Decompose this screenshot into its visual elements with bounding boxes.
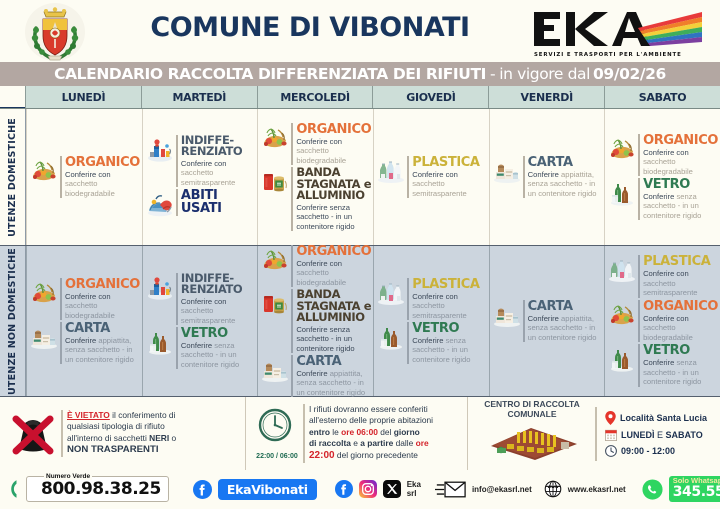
facebook-icon[interactable] xyxy=(335,480,353,498)
day-header-mercoledi: MERCOLEDÌ xyxy=(257,86,373,108)
prohibition-line2: qualsiasi tipologia di rifiuto xyxy=(67,421,165,431)
timing-t3d: del xyxy=(378,427,394,437)
waste-type-description: Conferire con sacchetto biodegradabile xyxy=(296,259,371,287)
center-day-conj: E xyxy=(657,430,663,440)
municipal-coat-of-arms-icon xyxy=(24,2,86,62)
timing-t4b: e xyxy=(351,438,360,448)
organic-waste-icon xyxy=(607,300,637,330)
waste-type-description: Conferire con sacchetto semitrasparente xyxy=(643,269,718,297)
paper-waste-icon xyxy=(492,300,522,330)
waste-type-title: VETRO xyxy=(181,327,255,340)
waste-entry: CARTAConferire appiattita, senza sacchet… xyxy=(260,355,371,397)
timing-t3b: le xyxy=(330,427,341,437)
cans-icon xyxy=(260,289,290,319)
center-hours-text: 09:00 - 12:00 xyxy=(621,446,675,456)
waste-type-title: VETRO xyxy=(412,322,486,335)
timing-entro: entro xyxy=(309,427,330,437)
toll-free-block: Numero Verde 800.98.38.25 xyxy=(26,476,169,502)
banner-valid-label: in vigore dal xyxy=(499,65,590,83)
waste-entry: ORGANICOConferire con sacchetto biodegra… xyxy=(607,300,718,342)
waste-type-title: INDIFFE-RENZIATO xyxy=(181,273,255,296)
cell-non-domestiche-lunedi: ORGANICOConferire con sacchetto biodegra… xyxy=(26,246,142,396)
organic-waste-icon xyxy=(29,278,59,308)
waste-entry-text: ORGANICOConferire con sacchetto biodegra… xyxy=(291,123,371,165)
prohibition-line1: il conferimento di xyxy=(110,410,176,420)
clock-icon xyxy=(605,445,617,457)
waste-entry-text: PLASTICAConferire con sacchetto semitras… xyxy=(407,156,486,198)
plastic-waste-icon xyxy=(607,255,637,285)
prohibition-line3c: o xyxy=(169,433,176,443)
waste-entry-text: PLASTICAConferire con sacchetto semitras… xyxy=(407,278,486,320)
center-hours-row: 09:00 - 12:00 xyxy=(605,445,707,457)
waste-entry: VETROConferire senza sacchetto - in un c… xyxy=(607,178,718,220)
cell-non-domestiche-venerdi: CARTAConferire appiattita, senza sacchet… xyxy=(489,246,604,396)
waste-type-title: ORGANICO xyxy=(65,278,140,291)
paper-waste-icon xyxy=(492,156,522,186)
svg-text:SERVIZI E TRASPORTI PER L'AMBI: SERVIZI E TRASPORTI PER L'AMBIENTE xyxy=(534,52,682,58)
table-corner xyxy=(0,86,25,108)
waste-type-title: ORGANICO xyxy=(296,123,371,136)
waste-type-title: VETRO xyxy=(643,344,718,357)
banner-dash: - xyxy=(490,65,495,83)
waste-type-description: Conferire con sacchetto biodegradabile xyxy=(65,170,140,198)
waste-entry: ORGANICOConferire con sacchetto biodegra… xyxy=(260,123,371,165)
waste-type-description: Conferire appiattita, senza sacchetto - … xyxy=(296,369,371,397)
collection-center-info: CENTRO DI RACCOLTA COMUNALE xyxy=(468,397,720,470)
waste-entry: VETROConferire senza sacchetto - in un c… xyxy=(145,327,255,369)
center-location-row: Località Santa Lucia xyxy=(605,411,707,425)
waste-type-description: Conferire con sacchetto semitrasparente xyxy=(181,159,255,187)
waste-type-title: ORGANICO xyxy=(65,156,140,169)
waste-entry: ORGANICOConferire con sacchetto biodegra… xyxy=(29,278,140,320)
waste-entry: PLASTICAConferire con sacchetto semitras… xyxy=(607,255,718,297)
glass-waste-icon xyxy=(607,178,637,208)
waste-type-description: Conferire con sacchetto biodegradabile xyxy=(643,148,718,176)
waste-type-description: Conferire senza sacchetto - in un conten… xyxy=(296,203,371,231)
paper-waste-icon xyxy=(260,355,290,385)
clock-range-label: 22:00 / 06:00 xyxy=(251,453,303,460)
waste-entry-text: CARTAConferire appiattita, senza sacchet… xyxy=(291,355,371,397)
waste-entry-text: BANDASTAGNATA eALLUMINIOConferire senza … xyxy=(291,167,371,231)
waste-type-description: Conferire con sacchetto semitrasparente xyxy=(412,170,486,198)
center-day-a: LUNEDÌ xyxy=(621,430,655,440)
calendar-icon xyxy=(605,429,617,441)
prohibition-notice: È VIETATO il conferimento di qualsiasi t… xyxy=(0,397,246,470)
waste-entry: CARTAConferire appiattita, senza sacchet… xyxy=(492,300,602,342)
timing-text: I rifiuti dovranno essere conferiti all'… xyxy=(303,404,433,463)
waste-type-description: Conferire senza sacchetto - in un conten… xyxy=(643,358,718,386)
waste-entry: PLASTICAConferire con sacchetto semitras… xyxy=(376,156,486,198)
cell-domestiche-mercoledi: ORGANICOConferire con sacchetto biodegra… xyxy=(257,109,373,245)
waste-entry-text: CARTAConferire appiattita, senza sacchet… xyxy=(60,322,140,364)
waste-entry: VETROConferire senza sacchetto - in un c… xyxy=(607,344,718,386)
timing-notice: 22:00 / 06:00 I rifiuti dovranno essere … xyxy=(246,397,468,470)
map-pin-icon xyxy=(605,411,616,425)
waste-type-title: VETRO xyxy=(643,178,718,191)
organic-waste-icon xyxy=(260,123,290,153)
waste-entry-text: ORGANICOConferire con sacchetto biodegra… xyxy=(638,134,718,176)
black-bag-forbidden-icon xyxy=(5,411,61,457)
organic-waste-icon xyxy=(29,156,59,186)
calendar-banner: CALENDARIO RACCOLTA DIFFERENZIATA DEI RI… xyxy=(0,62,720,86)
waste-entry-text: PLASTICAConferire con sacchetto semitras… xyxy=(638,255,718,297)
info-strip: È VIETATO il conferimento di qualsiasi t… xyxy=(0,396,720,470)
toll-free-label: Numero Verde xyxy=(44,473,92,480)
day-header-lunedi: LUNEDÌ xyxy=(25,86,141,108)
day-header-row: LUNEDÌ MARTEDÌ MERCOLEDÌ GIOVEDÌ VENERDÌ… xyxy=(0,86,720,109)
plastic-waste-icon xyxy=(376,278,406,308)
glass-waste-icon xyxy=(376,322,406,352)
cans-icon xyxy=(260,167,290,197)
instagram-icon[interactable] xyxy=(359,480,377,498)
phone-icon xyxy=(6,479,20,499)
row-label-domestiche: UTENZE DOMESTICHE xyxy=(0,109,26,245)
waste-entry-text: ORGANICOConferire con sacchetto biodegra… xyxy=(60,278,140,320)
prohibition-emphasis: È VIETATO xyxy=(67,410,110,420)
waste-entry-text: CARTAConferire appiattita, senza sacchet… xyxy=(523,156,602,198)
waste-entry-text: ORGANICOConferire con sacchetto biodegra… xyxy=(60,156,140,198)
prohibition-line4: NON TRASPARENTI xyxy=(67,444,159,455)
day-header-martedi: MARTEDÌ xyxy=(141,86,257,108)
collection-center-title-line2: COMUNALE xyxy=(473,410,591,420)
waste-entry: CARTAConferire appiattita, senza sacchet… xyxy=(492,156,602,198)
prohibition-line3a: all'interno di sacchetti xyxy=(67,433,149,443)
waste-entry-text: VETROConferire senza sacchetto - in un c… xyxy=(407,322,486,364)
waste-type-description: Conferire senza sacchetto - in un conten… xyxy=(296,325,371,353)
globe-icon: www xyxy=(544,480,562,498)
waste-type-description: Conferire con sacchetto biodegradabile xyxy=(65,292,140,320)
center-day-b: SABATO xyxy=(666,430,703,440)
envelope-icon xyxy=(435,480,466,499)
cell-non-domestiche-sabato: PLASTICAConferire con sacchetto semitras… xyxy=(604,246,720,396)
eka-logo: SERVIZI E TRASPORTI PER L'AMBIENTE xyxy=(516,4,712,60)
waste-type-title: BANDASTAGNATA eALLUMINIO xyxy=(296,289,371,324)
waste-type-title: CARTA xyxy=(528,156,602,169)
waste-type-title: ABITI USATI xyxy=(181,189,255,215)
timing-line2: all'esterno delle proprie abitazioni xyxy=(309,415,433,425)
center-location-text: Località Santa Lucia xyxy=(620,413,707,423)
waste-entry-text: VETROConferire senza sacchetto - in un c… xyxy=(638,344,718,386)
waste-type-title: ORGANICO xyxy=(643,134,718,147)
whatsapp-number: 345.55.72.973 xyxy=(673,485,720,500)
waste-type-title: PLASTICA xyxy=(643,255,718,268)
waste-entry: ABITI USATI xyxy=(145,189,255,219)
waste-type-description: Conferire con sacchetto semitrasparente xyxy=(412,292,486,320)
waste-entry: INDIFFE-RENZIATOConferire con sacchetto … xyxy=(145,135,255,187)
cell-domestiche-giovedi: PLASTICAConferire con sacchetto semitras… xyxy=(373,109,488,245)
paper-waste-icon xyxy=(29,322,59,352)
waste-entry-text: ORGANICOConferire con sacchetto biodegra… xyxy=(291,245,371,287)
cell-non-domestiche-giovedi: PLASTICAConferire con sacchetto semitras… xyxy=(373,246,488,396)
clock-icon: 22:00 / 06:00 xyxy=(251,407,303,460)
mixed-waste-icon xyxy=(145,135,175,165)
timing-2200: 22:00 xyxy=(309,450,335,461)
facebook-page-button[interactable]: EkaVibonati xyxy=(218,479,317,500)
waste-entry-text: INDIFFE-RENZIATOConferire con sacchetto … xyxy=(176,135,255,187)
x-twitter-icon[interactable] xyxy=(383,480,401,498)
waste-calendar-page: COMUNE DI VIBONATI xyxy=(0,0,720,509)
waste-type-description: Conferire con sacchetto biodegradabile xyxy=(296,137,371,165)
waste-entry: INDIFFE-RENZIATOConferire con sacchetto … xyxy=(145,273,255,325)
row-utenze-domestiche: UTENZE DOMESTICHE ORGANICOConferire con … xyxy=(0,109,720,245)
cell-domestiche-sabato: ORGANICOConferire con sacchetto biodegra… xyxy=(604,109,720,245)
waste-entry-text: VETROConferire senza sacchetto - in un c… xyxy=(176,327,255,369)
organic-waste-icon xyxy=(607,134,637,164)
cell-non-domestiche-mercoledi: ORGANICOConferire con sacchetto biodegra… xyxy=(257,246,373,396)
waste-entry-text: ORGANICOConferire con sacchetto biodegra… xyxy=(638,300,718,342)
waste-entry-text: INDIFFE-RENZIATOConferire con sacchetto … xyxy=(176,273,255,325)
cell-non-domestiche-martedi: INDIFFE-RENZIATOConferire con sacchetto … xyxy=(142,246,257,396)
waste-type-description: Conferire senza sacchetto - in un conten… xyxy=(643,192,718,220)
waste-type-title: ORGANICO xyxy=(643,300,718,313)
waste-type-title: INDIFFE-RENZIATO xyxy=(181,135,255,158)
timing-ore0600: ore 06:00 xyxy=(341,427,378,437)
cell-domestiche-lunedi: ORGANICOConferire con sacchetto biodegra… xyxy=(26,109,142,245)
row-utenze-non-domestiche: UTENZE NON DOMESTICHE ORGANICOConferire … xyxy=(0,245,720,396)
email-text[interactable]: info@ekasrl.net xyxy=(472,485,532,494)
recycling-center-icon xyxy=(473,420,591,467)
day-header-sabato: SABATO xyxy=(604,86,720,108)
timing-line1: I rifiuti dovranno essere conferiti xyxy=(309,404,428,414)
waste-entry-text: VETROConferire senza sacchetto - in un c… xyxy=(638,178,718,220)
waste-type-description: Conferire con sacchetto semitrasparente xyxy=(181,297,255,325)
waste-entry: PLASTICAConferire con sacchetto semitras… xyxy=(376,278,486,320)
timing-t5b: del giorno precedente xyxy=(335,450,418,460)
page-title: COMUNE DI VIBONATI xyxy=(110,12,510,43)
glass-waste-icon xyxy=(607,344,637,374)
day-header-venerdi: VENERDÌ xyxy=(488,86,604,108)
waste-type-title: PLASTICA xyxy=(412,278,486,291)
svg-text:www: www xyxy=(547,484,559,489)
plastic-waste-icon xyxy=(376,156,406,186)
waste-type-description: Conferire appiattita, senza sacchetto - … xyxy=(65,336,140,364)
waste-entry-text: ABITI USATI xyxy=(176,189,255,216)
prohibition-neri: NERI xyxy=(149,433,169,443)
cell-domestiche-martedi: INDIFFE-RENZIATOConferire con sacchetto … xyxy=(142,109,257,245)
banner-valid-date: 09/02/26 xyxy=(593,65,666,83)
facebook-icon[interactable] xyxy=(193,480,212,499)
row-label-non-domestiche-text: UTENZE NON DOMESTICHE xyxy=(7,248,18,395)
waste-type-description: Conferire senza sacchetto - in un conten… xyxy=(412,336,486,364)
waste-entry-text: BANDASTAGNATA eALLUMINIOConferire senza … xyxy=(291,289,371,353)
page-header: COMUNE DI VIBONATI xyxy=(0,0,720,62)
waste-type-title: CARTA xyxy=(528,300,602,313)
waste-type-title: CARTA xyxy=(65,322,140,335)
waste-entry: ORGANICOConferire con sacchetto biodegra… xyxy=(607,134,718,176)
waste-entry: VETROConferire senza sacchetto - in un c… xyxy=(376,322,486,364)
waste-entry: ORGANICOConferire con sacchetto biodegra… xyxy=(29,156,140,198)
row-label-domestiche-text: UTENZE DOMESTICHE xyxy=(7,118,18,237)
center-days-row: LUNEDÌ E SABATO xyxy=(605,429,707,441)
whatsapp-icon[interactable] xyxy=(642,479,663,500)
waste-type-title: CARTA xyxy=(296,355,371,368)
row-label-non-domestiche: UTENZE NON DOMESTICHE xyxy=(0,246,26,396)
footer-bar: Numero Verde 800.98.38.25 EkaVibonati Ek… xyxy=(0,470,720,508)
waste-type-title: ORGANICO xyxy=(296,245,371,258)
prohibition-text: È VIETATO il conferimento di qualsiasi t… xyxy=(61,410,176,457)
waste-type-title: BANDASTAGNATA eALLUMINIO xyxy=(296,167,371,202)
whatsapp-block[interactable]: Solo Whatsapp 345.55.72.973 xyxy=(669,476,720,501)
glass-waste-icon xyxy=(145,327,175,357)
waste-type-description: Conferire appiattita, senza sacchetto - … xyxy=(528,314,602,342)
website-text[interactable]: www.ekasrl.net xyxy=(568,485,626,494)
timing-a-partire: a partire xyxy=(360,438,393,448)
day-header-giovedi: GIOVEDÌ xyxy=(372,86,488,108)
waste-type-description: Conferire appiattita, senza sacchetto - … xyxy=(528,170,602,198)
timing-giorno: giorno xyxy=(394,427,420,437)
cell-domestiche-venerdi: CARTAConferire appiattita, senza sacchet… xyxy=(489,109,604,245)
waste-type-description: Conferire senza sacchetto - in un conten… xyxy=(181,341,255,369)
timing-di-raccolta: di raccolta xyxy=(309,438,351,448)
waste-entry-text: CARTAConferire appiattita, senza sacchet… xyxy=(523,300,602,342)
banner-main-text: CALENDARIO RACCOLTA DIFFERENZIATA DEI RI… xyxy=(54,65,486,83)
waste-entry: CARTAConferire appiattita, senza sacchet… xyxy=(29,322,140,364)
social-handle: Eka srl xyxy=(407,480,421,498)
waste-entry: ORGANICOConferire con sacchetto biodegra… xyxy=(260,245,371,287)
waste-type-description: Conferire con sacchetto biodegradabile xyxy=(643,314,718,342)
waste-type-title: PLASTICA xyxy=(412,156,486,169)
timing-t4d: dalle xyxy=(393,438,415,448)
waste-entry: BANDASTAGNATA eALLUMINIOConferire senza … xyxy=(260,289,371,353)
timing-ore: ore xyxy=(416,438,429,448)
mixed-waste-icon xyxy=(145,273,175,303)
used-clothes-icon xyxy=(145,189,175,219)
waste-entry: BANDASTAGNATA eALLUMINIOConferire senza … xyxy=(260,167,371,231)
organic-waste-icon xyxy=(260,245,290,275)
